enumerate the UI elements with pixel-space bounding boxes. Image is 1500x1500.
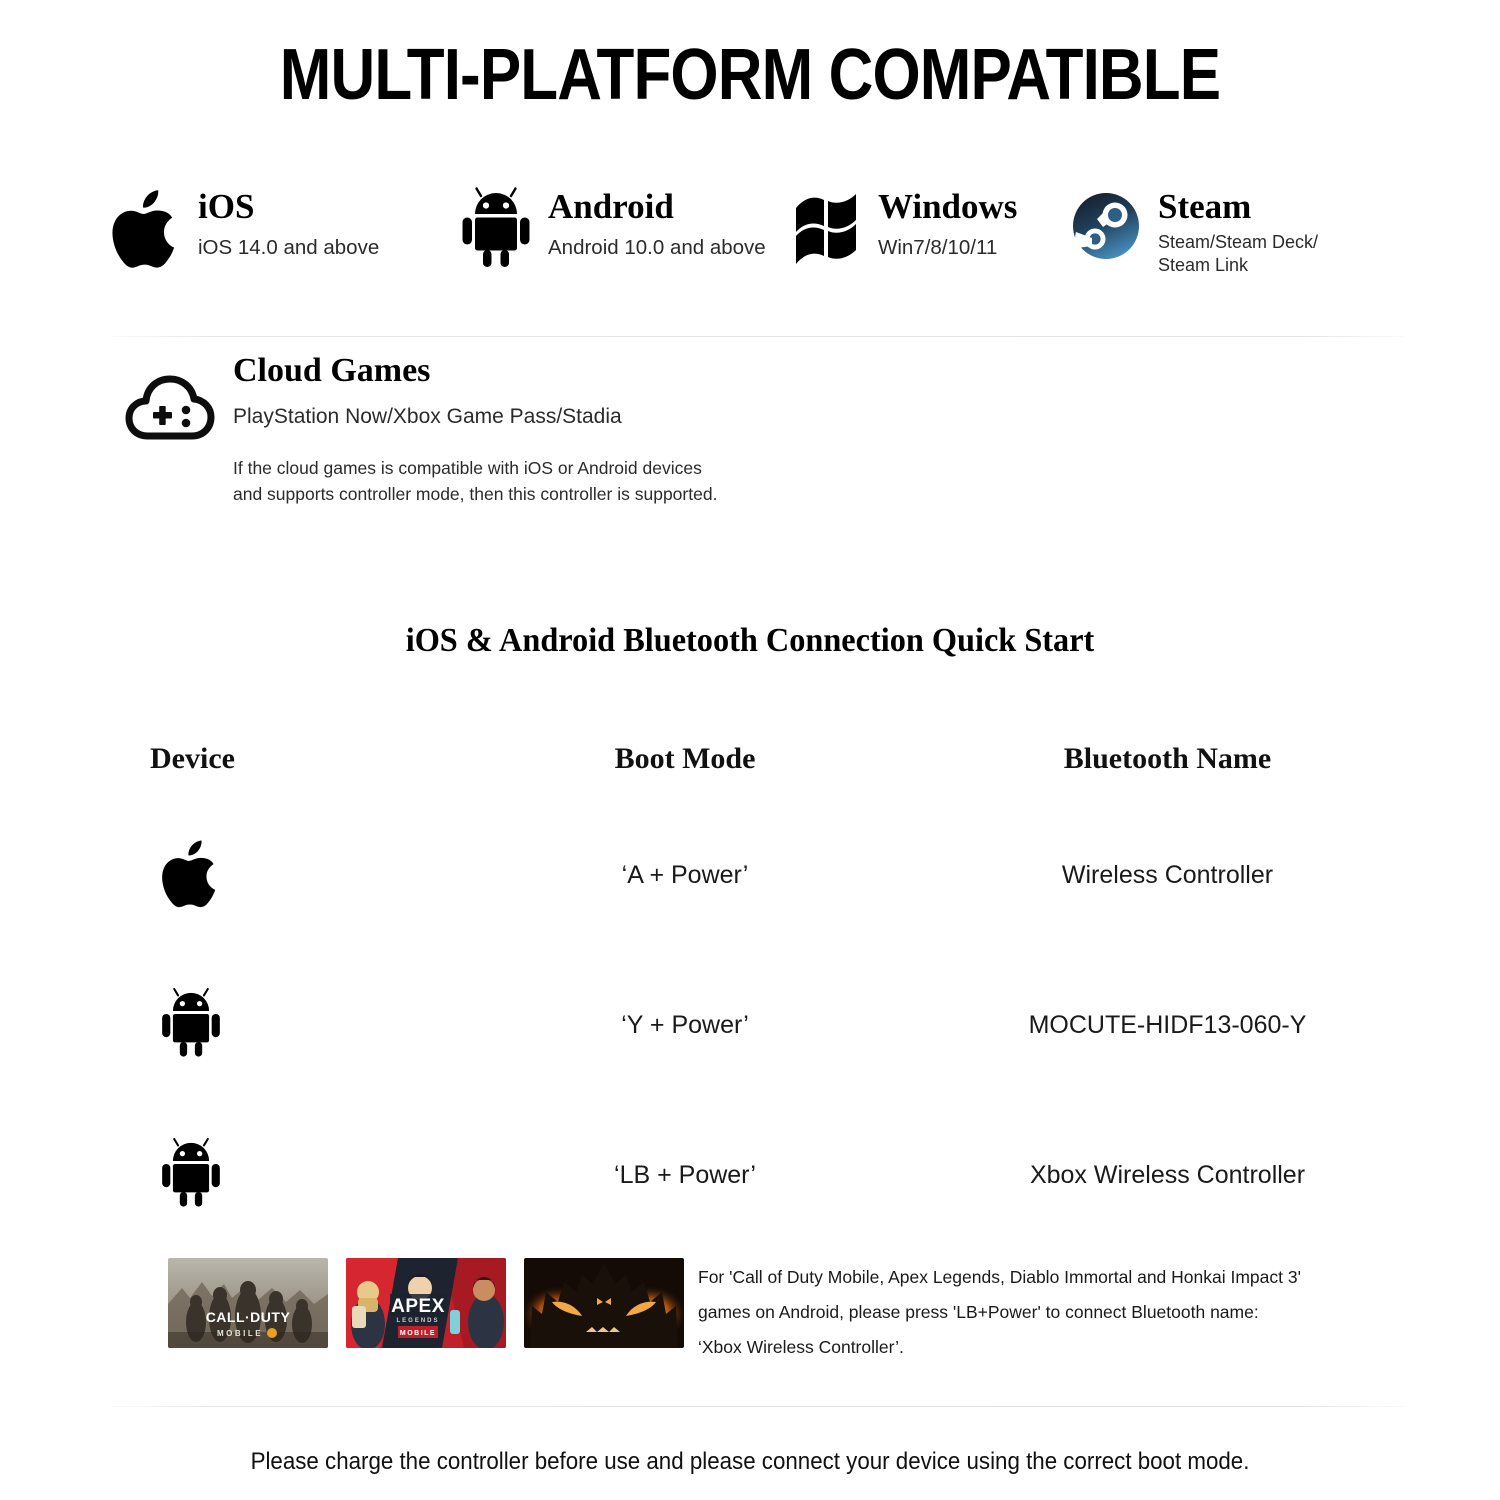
cell-bluetooth-name: Xbox Wireless Controller xyxy=(1030,1161,1305,1189)
table-row: ‘A + Power’ Wireless Controller xyxy=(110,800,1405,950)
apex-badge: MOBILE xyxy=(400,1330,436,1337)
platform-item-ios: iOS iOS 14.0 and above xyxy=(110,186,460,296)
bluetooth-quickstart-table: Device Boot Mode Bluetooth Name ‘A + Pow… xyxy=(110,718,1405,1250)
cloud-games-title: Cloud Games xyxy=(233,352,918,389)
cell-bluetooth-name: Wireless Controller xyxy=(1062,861,1273,889)
column-header-boot-mode: Boot Mode xyxy=(615,742,756,775)
platform-sub-android: Android 10.0 and above xyxy=(548,235,766,261)
platform-sub-windows: Win7/8/10/11 xyxy=(878,235,1017,261)
column-header-bluetooth-name: Bluetooth Name xyxy=(1064,742,1271,775)
android-icon xyxy=(160,1136,222,1215)
android-icon xyxy=(160,986,222,1065)
cell-boot-mode: ‘Y + Power’ xyxy=(621,1011,749,1039)
column-header-device: Device xyxy=(150,742,235,775)
platform-item-steam: Steam Steam/Steam Deck/ Steam Link xyxy=(1070,186,1370,296)
apple-icon xyxy=(160,836,222,915)
platform-sub-ios: iOS 14.0 and above xyxy=(198,235,379,261)
cloud-games-services: PlayStation Now/Xbox Game Pass/Stadia xyxy=(233,405,918,429)
platform-name-windows: Windows xyxy=(878,188,1017,226)
apex-legends-mobile-thumbnail: APEX LEGENDS MOBILE xyxy=(346,1258,506,1348)
table-row: ‘LB + Power’ Xbox Wireless Controller xyxy=(110,1100,1405,1250)
cell-boot-mode: ‘LB + Power’ xyxy=(614,1161,756,1189)
divider-platforms xyxy=(110,336,1405,337)
cloud-gamepad-icon xyxy=(124,368,224,448)
game-note-line-1: For 'Call of Duty Mobile, Apex Legends, … xyxy=(698,1260,1318,1295)
diablo-immortal-thumbnail xyxy=(524,1258,684,1348)
platform-name-ios: iOS xyxy=(198,188,379,226)
android-icon xyxy=(460,186,532,270)
cloud-games-note: If the cloud games is compatible with iO… xyxy=(233,456,918,507)
apex-title: APEX xyxy=(391,1296,445,1317)
platform-name-steam: Steam xyxy=(1158,188,1318,226)
windows-icon xyxy=(790,186,862,270)
table-row: ‘Y + Power’ MOCUTE-HIDF13-060-Y xyxy=(110,950,1405,1100)
cell-bluetooth-name: MOCUTE-HIDF13-060-Y xyxy=(1029,1011,1307,1039)
apex-subtitle: LEGENDS xyxy=(396,1318,439,1324)
platform-item-windows: Windows Win7/8/10/11 xyxy=(790,186,1070,296)
infographic-page: MULTI-PLATFORM COMPATIBLE iOS iOS 14.0 a… xyxy=(0,0,1500,1500)
platform-name-android: Android xyxy=(548,188,766,226)
footer-note: Please charge the controller before use … xyxy=(53,1448,1448,1476)
steam-icon xyxy=(1070,186,1142,270)
platform-list: iOS iOS 14.0 and above xyxy=(110,186,1410,296)
table-header-row: Device Boot Mode Bluetooth Name xyxy=(110,718,1405,800)
cloud-games-section: Cloud Games PlayStation Now/Xbox Game Pa… xyxy=(118,352,918,507)
game-note-line-3: ‘Xbox Wireless Controller’. xyxy=(698,1330,1318,1365)
call-of-duty-mobile-thumbnail: CALL·DUTY MOBILE xyxy=(168,1258,328,1348)
table-title: iOS & Android Bluetooth Connection Quick… xyxy=(38,622,1463,660)
game-thumbnail-list: CALL·DUTY MOBILE xyxy=(168,1258,684,1348)
game-compatibility-note: For 'Call of Duty Mobile, Apex Legends, … xyxy=(698,1260,1318,1365)
cod-subtitle: MOBILE xyxy=(217,1329,263,1338)
divider-footer xyxy=(110,1406,1405,1407)
cod-title: CALL·DUTY xyxy=(206,1309,291,1325)
apple-icon xyxy=(110,186,182,270)
platform-item-android: Android Android 10.0 and above xyxy=(460,186,790,296)
platform-sub-steam: Steam/Steam Deck/ Steam Link xyxy=(1158,231,1318,277)
page-title: MULTI-PLATFORM COMPATIBLE xyxy=(105,38,1395,114)
game-note-line-2: games on Android, please press 'LB+Power… xyxy=(698,1295,1318,1330)
cell-boot-mode: ‘A + Power’ xyxy=(622,861,749,889)
